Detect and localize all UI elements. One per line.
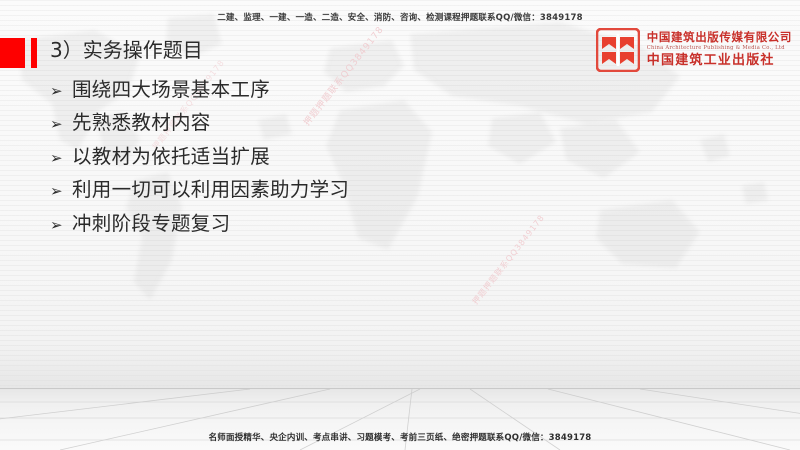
bullet-item: ➢ 冲刺阶段专题复习 <box>50 214 590 234</box>
bullet-text: 利用一切可以利用因素助力学习 <box>72 180 349 200</box>
slide-content: 3）实务操作题目 ➢ 围绕四大场景基本工序 ➢ 先熟悉教材内容 ➢ 以教材为依托… <box>50 40 590 247</box>
open-book-icon <box>596 28 640 72</box>
bullet-text: 以教材为依托适当扩展 <box>72 147 270 167</box>
bullet-text: 围绕四大场景基本工序 <box>72 80 270 100</box>
bullet-item: ➢ 利用一切可以利用因素助力学习 <box>50 180 590 200</box>
bullet-text: 冲刺阶段专题复习 <box>72 214 230 234</box>
arrow-bullet-icon: ➢ <box>50 117 72 132</box>
logo-company-name-en: China Architecture Publishing & Media Co… <box>647 45 792 52</box>
bullet-item: ➢ 以教材为依托适当扩展 <box>50 147 590 167</box>
footer-contact-banner: 名师面授精华、央企内训、考点串讲、习题模考、考前三页纸、绝密押题联系QQ/微信：… <box>0 431 800 443</box>
bullet-item: ➢ 先熟悉教材内容 <box>50 113 590 133</box>
arrow-bullet-icon: ➢ <box>50 218 72 233</box>
arrow-bullet-icon: ➢ <box>50 151 72 166</box>
floor-horizon-line <box>0 388 800 389</box>
logo-company-name-cn: 中国建筑出版传媒有限公司 <box>647 31 792 44</box>
arrow-bullet-icon: ➢ <box>50 184 72 199</box>
publisher-logo: 中国建筑出版传媒有限公司 China Architecture Publishi… <box>596 28 792 72</box>
bullet-text: 先熟悉教材内容 <box>72 113 211 133</box>
presentation-slide: 押题押题联系QQ3849178 押题押题联系QQ3849178 押题押题联系QQ… <box>0 0 800 450</box>
top-contact-banner: 二建、监理、一建、一造、二造、安全、消防、咨询、检测课程押题联系QQ/微信：38… <box>0 11 800 23</box>
slide-heading: 3）实务操作题目 <box>50 40 590 60</box>
arrow-bullet-icon: ➢ <box>50 84 72 99</box>
logo-press-name-cn: 中国建筑工业出版社 <box>647 53 792 69</box>
bullet-item: ➢ 围绕四大场景基本工序 <box>50 80 590 100</box>
accent-bar-thin <box>31 38 37 68</box>
logo-text-block: 中国建筑出版传媒有限公司 China Architecture Publishi… <box>647 31 792 68</box>
wall-shadow <box>0 340 800 390</box>
accent-block-square <box>0 38 25 68</box>
red-accent-decoration <box>0 38 37 68</box>
